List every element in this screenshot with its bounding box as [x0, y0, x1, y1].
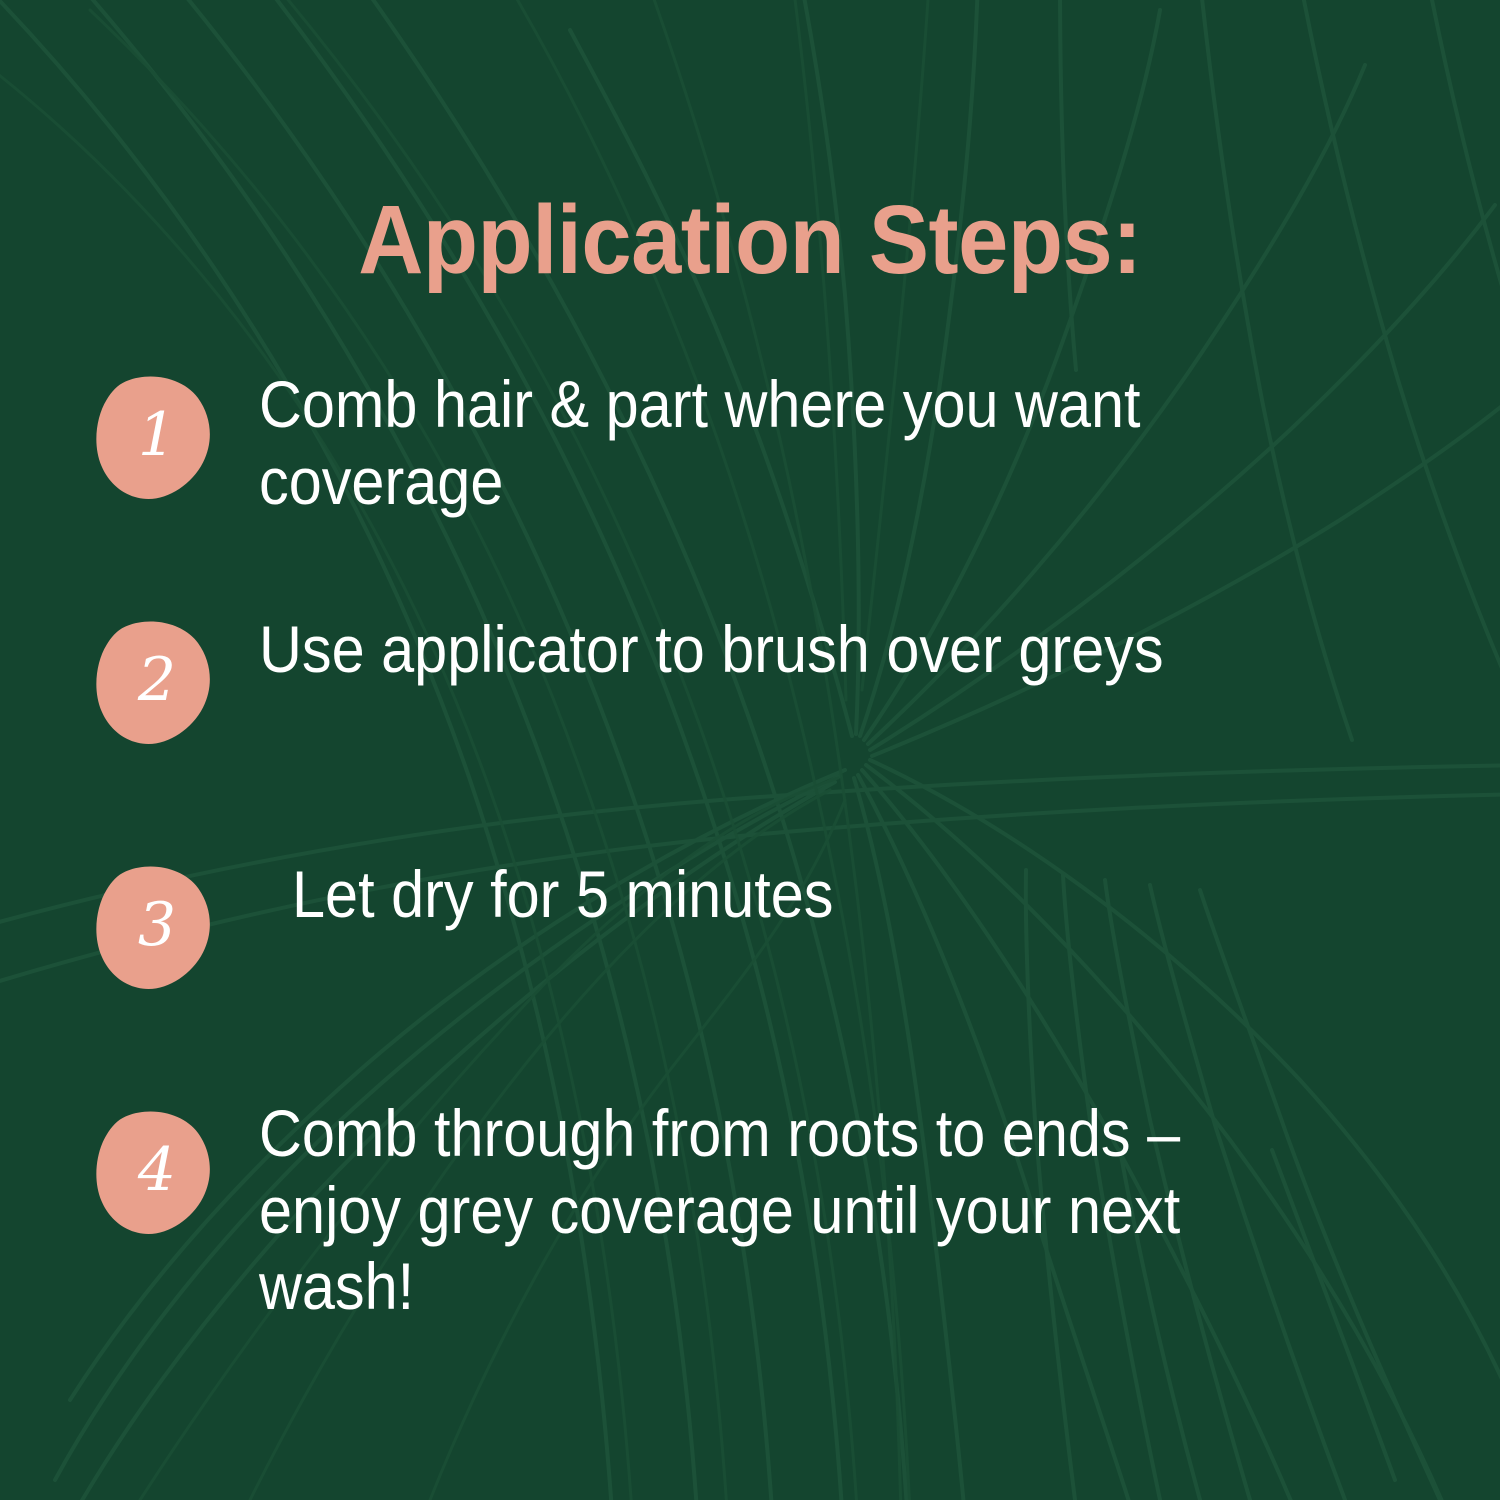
step-number-1: 1	[95, 374, 213, 500]
step-text-1: Comb hair & part where you want coverage	[259, 366, 1376, 519]
step-text-4: Comb through from roots to ends – enjoy …	[259, 1095, 1376, 1325]
step-item-2: 2 Use applicator to brush over greys	[0, 597, 1500, 842]
step-badge-1: 1	[95, 374, 213, 500]
page-title: Application Steps:	[53, 191, 1448, 288]
step-text-3: Let dry for 5 minutes	[259, 856, 1376, 933]
step-number-3: 3	[95, 864, 213, 990]
step-badge-2: 2	[95, 619, 213, 745]
step-number-4: 4	[95, 1109, 213, 1235]
application-steps-poster: Application Steps: 1 Comb hair & part wh…	[0, 0, 1500, 1500]
step-badge-4: 4	[95, 1109, 213, 1235]
step-item-4: 4 Comb through from roots to ends – enjo…	[0, 1087, 1500, 1387]
step-item-3: 3 Let dry for 5 minutes	[0, 842, 1500, 1087]
step-item-1: 1 Comb hair & part where you want covera…	[0, 352, 1500, 597]
steps-list: 1 Comb hair & part where you want covera…	[0, 352, 1500, 1387]
step-number-2: 2	[95, 619, 213, 745]
step-badge-3: 3	[95, 864, 213, 990]
step-text-2: Use applicator to brush over greys	[259, 611, 1376, 688]
